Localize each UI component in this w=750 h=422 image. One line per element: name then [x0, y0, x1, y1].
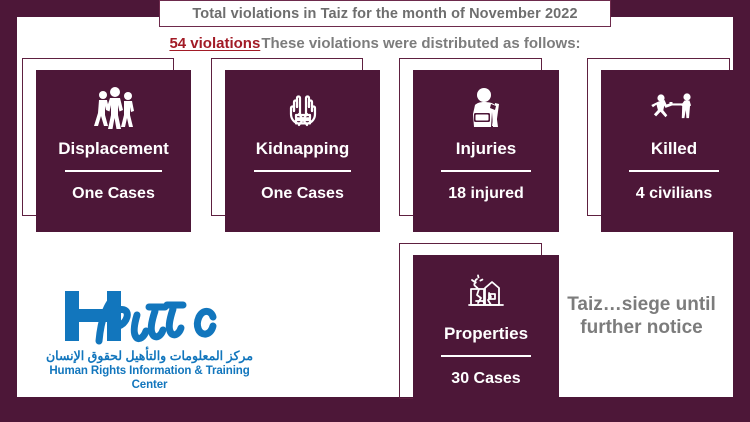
card-label: Kidnapping [256, 140, 349, 159]
card-label: Displacement [58, 140, 169, 159]
card-divider [629, 170, 720, 172]
card-divider [441, 170, 532, 172]
card-value: 4 civilians [636, 185, 713, 203]
logo-english-name: Human Rights Information & Training Cent… [32, 365, 267, 393]
card-value: 18 injured [448, 185, 524, 203]
injuries-icon [465, 82, 507, 134]
stat-card-properties: Properties 30 Cases [399, 243, 559, 415]
card-value: One Cases [261, 185, 344, 203]
card-body: Properties 30 Cases [413, 255, 559, 415]
card-label: Properties [444, 325, 528, 344]
subtitle-text: These violations were distributed as fol… [261, 35, 580, 52]
card-value: One Cases [72, 185, 155, 203]
stat-card-injuries: Injuries 18 injured [399, 58, 559, 233]
displacement-icon [90, 82, 138, 134]
properties-icon [463, 267, 509, 319]
killed-icon [649, 82, 699, 134]
card-value: 30 Cases [451, 370, 520, 388]
kidnapping-icon [280, 82, 326, 134]
organization-logo: مركز المعلومات والتأهيل لحقوق الإنسان Hu… [32, 285, 267, 393]
card-divider [65, 170, 161, 172]
stat-card-kidnapping: Kidnapping One Cases [211, 58, 381, 233]
card-body: Killed 4 civilians [601, 70, 747, 232]
slogan-text: Taiz…siege until further notice [554, 293, 729, 339]
stat-card-displacement: Displacement One Cases [22, 58, 192, 233]
infographic-root: Total violations in Taiz for the month o… [0, 0, 750, 422]
card-body: Kidnapping One Cases [225, 70, 380, 232]
page-title: Total violations in Taiz for the month o… [192, 6, 577, 22]
stat-card-killed: Killed 4 civilians [587, 58, 747, 233]
logo-arabic-name: مركز المعلومات والتأهيل لحقوق الإنسان [32, 349, 267, 364]
card-label: Injuries [456, 140, 516, 159]
total-violations-count: 54 violations [169, 35, 260, 52]
hritc-wordmark-icon [32, 285, 267, 347]
card-body: Injuries 18 injured [413, 70, 559, 232]
card-divider [441, 355, 532, 357]
page-title-box: Total violations in Taiz for the month o… [159, 0, 611, 27]
subtitle: 54 violations These violations were dist… [0, 32, 750, 54]
card-body: Displacement One Cases [36, 70, 191, 232]
card-divider [254, 170, 350, 172]
card-label: Killed [651, 140, 697, 159]
